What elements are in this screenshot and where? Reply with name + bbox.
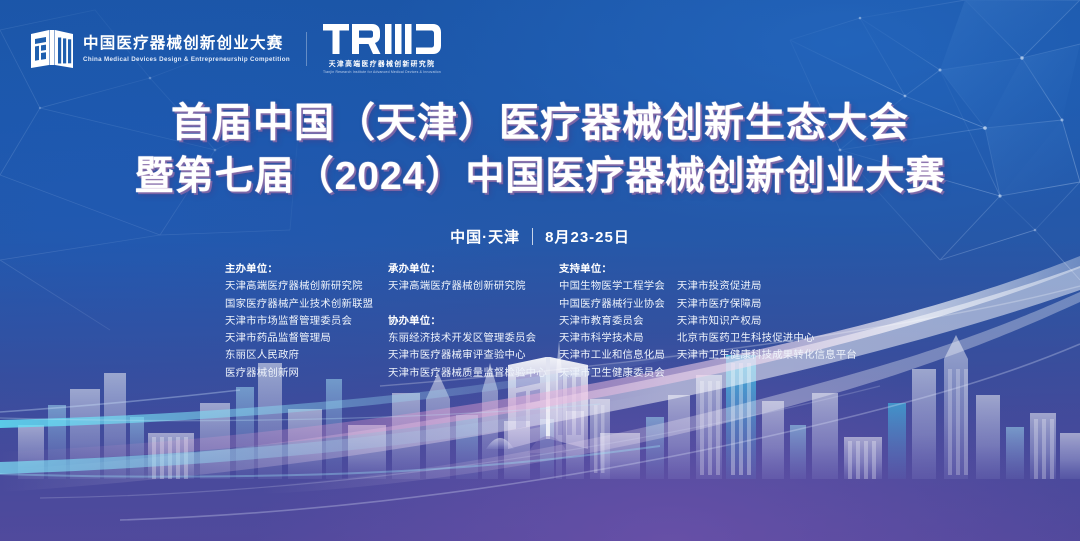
supporter-item: 天津市卫生健康委员会 bbox=[559, 365, 665, 382]
supporter-column: 支持单位： 中国生物医学工程学会 中国医疗器械行业协会 天津市教育委员会 天津市… bbox=[559, 261, 857, 382]
host-item: 医疗器械创新网 bbox=[225, 365, 388, 382]
host-item: 天津高端医疗器械创新研究院 bbox=[225, 278, 388, 295]
competition-logo-text: 中国医疗器械创新创业大赛 China Medical Devices Desig… bbox=[83, 35, 290, 63]
poster-title: 首届中国（天津）医疗器械创新生态大会 暨第七届（2024）中国医疗器械创新创业大… bbox=[0, 96, 1080, 204]
executor-column: 承办单位： 天津高端医疗器械创新研究院 协办单位： 东丽经济技术开发区管理委员会… bbox=[388, 261, 559, 382]
host-item: 天津市药品监督管理局 bbox=[225, 330, 388, 347]
supporter-item: 天津市医疗保障局 bbox=[677, 296, 857, 313]
triid-wordmark-icon bbox=[323, 24, 441, 54]
executor-title: 承办单位： bbox=[388, 261, 559, 278]
event-date: 8月23-25日 bbox=[545, 226, 630, 247]
coorganizer-item: 东丽经济技术开发区管理委员会 bbox=[388, 330, 559, 347]
supporter-title: 支持单位： bbox=[559, 261, 665, 278]
supporter-item: 天津市知识产权局 bbox=[677, 313, 857, 330]
supporter-sub-right: 天津市投资促进局 天津市医疗保障局 天津市知识产权局 北京市医药卫生科技促进中心… bbox=[677, 261, 857, 382]
supporter-item: 天津市教育委员会 bbox=[559, 313, 665, 330]
coorganizer-item: 天津市医疗器械质量监督检验中心 bbox=[388, 365, 559, 382]
column-spacer bbox=[677, 261, 857, 278]
header-logos: 中国医疗器械创新创业大赛 China Medical Devices Desig… bbox=[30, 24, 441, 74]
supporter-item: 天津市投资促进局 bbox=[677, 278, 857, 295]
meta-separator bbox=[532, 228, 533, 245]
host-item: 天津市市场监督管理委员会 bbox=[225, 313, 388, 330]
institute-name-en: Tianjin Research Institute for Advanced … bbox=[323, 70, 441, 74]
conference-poster: 中国医疗器械创新创业大赛 China Medical Devices Desig… bbox=[0, 0, 1080, 541]
institute-logo: 天津高端医疗器械创新研究院 Tianjin Research Institute… bbox=[323, 24, 441, 74]
institute-name-cn: 天津高端医疗器械创新研究院 bbox=[329, 58, 436, 68]
host-item: 东丽区人民政府 bbox=[225, 347, 388, 364]
supporter-item: 天津市卫生健康科技成果转化信息平台 bbox=[677, 347, 857, 364]
host-column: 主办单位： 天津高端医疗器械创新研究院 国家医疗器械产业技术创新联盟 天津市市场… bbox=[225, 261, 388, 382]
host-title: 主办单位： bbox=[225, 261, 388, 278]
event-meta: 中国·天津 8月23-25日 bbox=[0, 226, 1080, 247]
organizers-section: 主办单位： 天津高端医疗器械创新研究院 国家医疗器械产业技术创新联盟 天津市市场… bbox=[225, 261, 857, 382]
supporter-item: 天津市工业和信息化局 bbox=[559, 347, 665, 364]
coorganizer-item: 天津市医疗器械审评查验中心 bbox=[388, 347, 559, 364]
supporter-sub-left: 支持单位： 中国生物医学工程学会 中国医疗器械行业协会 天津市教育委员会 天津市… bbox=[559, 261, 665, 382]
supporter-item: 北京市医药卫生科技促进中心 bbox=[677, 330, 857, 347]
host-item: 国家医疗器械产业技术创新联盟 bbox=[225, 296, 388, 313]
supporter-item: 中国医疗器械行业协会 bbox=[559, 296, 665, 313]
competition-name-en: China Medical Devices Design & Entrepren… bbox=[83, 56, 290, 63]
competition-logo: 中国医疗器械创新创业大赛 China Medical Devices Desig… bbox=[30, 29, 290, 69]
title-line-2: 暨第七届（2024）中国医疗器械创新创业大赛 bbox=[0, 150, 1080, 204]
column-spacer bbox=[388, 296, 559, 313]
coorganizer-title: 协办单位： bbox=[388, 313, 559, 330]
supporter-item: 中国生物医学工程学会 bbox=[559, 278, 665, 295]
competition-name-cn: 中国医疗器械创新创业大赛 bbox=[83, 35, 290, 53]
open-book-door-icon bbox=[30, 29, 74, 69]
logo-divider bbox=[306, 32, 307, 66]
title-line-1: 首届中国（天津）医疗器械创新生态大会 bbox=[0, 96, 1080, 150]
event-location: 中国·天津 bbox=[450, 226, 520, 247]
executor-item: 天津高端医疗器械创新研究院 bbox=[388, 278, 559, 295]
supporter-item: 天津市科学技术局 bbox=[559, 330, 665, 347]
